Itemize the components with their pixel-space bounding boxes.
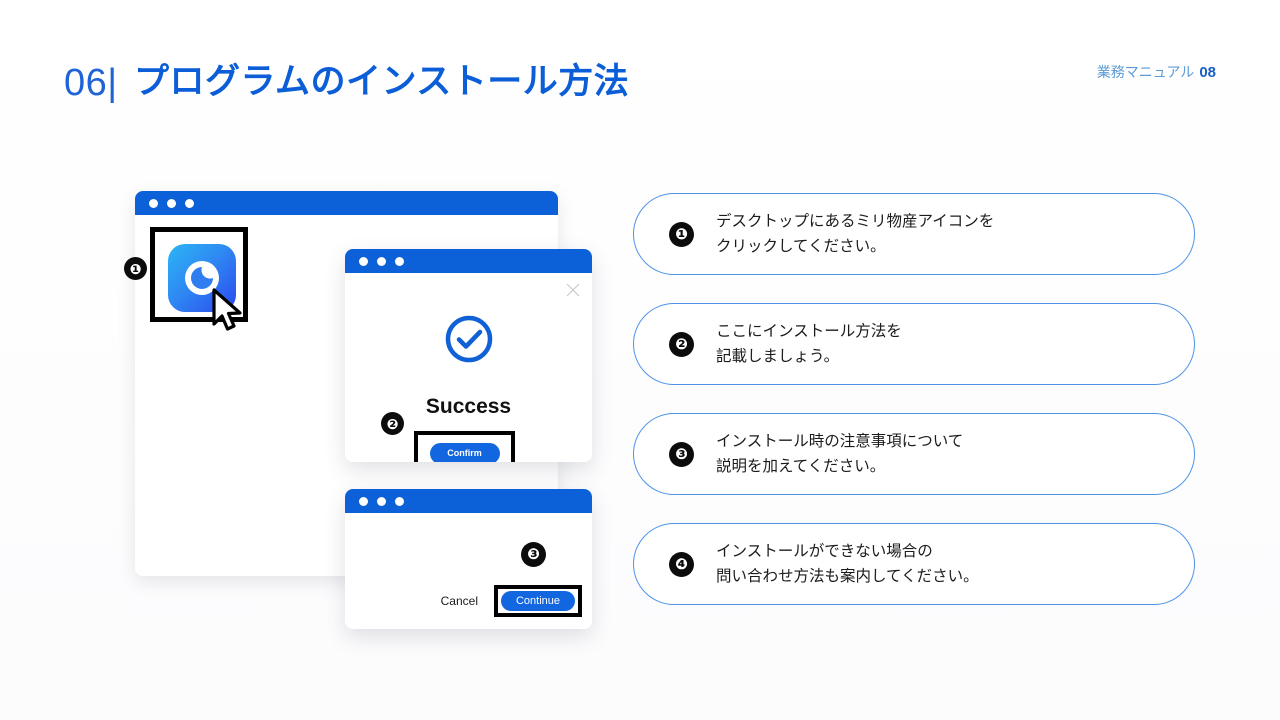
- callout-line-2: 説明を加えてください。: [716, 454, 963, 479]
- status-icon-wrap: [345, 313, 592, 365]
- manual-label: 業務マニュアル: [1097, 64, 1195, 80]
- step-badge-1: ❶: [124, 257, 147, 280]
- document-meta: 業務マニュアル08: [1097, 62, 1216, 82]
- window-body: Cancel Continue: [345, 513, 592, 629]
- confirm-button[interactable]: Confirm: [430, 443, 500, 463]
- callout-badge-2: ❷: [669, 332, 694, 357]
- callout-line-2: 記載しましょう。: [716, 344, 902, 369]
- window-dot-minimize[interactable]: [167, 199, 176, 208]
- check-circle-icon: [443, 313, 495, 365]
- window-dot-minimize[interactable]: [377, 497, 386, 506]
- cancel-button[interactable]: Cancel: [429, 588, 490, 614]
- dialog-titlebar: [345, 249, 592, 273]
- window-titlebar: [135, 191, 558, 215]
- window-dot-close[interactable]: [359, 257, 368, 266]
- window-dot-maximize[interactable]: [395, 497, 404, 506]
- window-dot-close[interactable]: [359, 497, 368, 506]
- callout-badge-4: ❹: [669, 552, 694, 577]
- callout-text-2: ここにインストール方法を 記載しましょう。: [716, 319, 902, 369]
- step-badge-2: ❷: [381, 412, 404, 435]
- mouse-cursor-icon: [211, 288, 245, 332]
- window-titlebar: [345, 489, 592, 513]
- callout-line-1: インストールができない場合の: [716, 539, 979, 564]
- callout-text-3: インストール時の注意事項について 説明を加えてください。: [716, 429, 963, 479]
- callout-list: ❶ デスクトップにあるミリ物産アイコンを クリックしてください。 ❷ ここにイン…: [633, 193, 1195, 633]
- callout-text-4: インストールができない場合の 問い合わせ方法も案内してください。: [716, 539, 979, 589]
- slide-canvas: 06| プログラムのインストール方法 業務マニュアル08: [0, 0, 1280, 720]
- step-badge-3: ❸: [521, 542, 546, 567]
- success-heading: Success: [345, 395, 592, 419]
- continue-highlight: Continue: [494, 585, 582, 617]
- continue-button[interactable]: Continue: [501, 591, 575, 611]
- callout-item-2: ❷ ここにインストール方法を 記載しましょう。: [633, 303, 1195, 385]
- window-dot-maximize[interactable]: [185, 199, 194, 208]
- dialog-body: Success Confirm: [345, 273, 592, 462]
- page-number: 08: [1199, 64, 1216, 81]
- callout-line-1: ここにインストール方法を: [716, 319, 902, 344]
- callout-line-2: クリックしてください。: [716, 234, 994, 259]
- close-icon[interactable]: [566, 283, 580, 297]
- callout-badge-3: ❸: [669, 442, 694, 467]
- installer-window: Cancel Continue: [345, 489, 592, 629]
- callout-item-3: ❸ インストール時の注意事項について 説明を加えてください。: [633, 413, 1195, 495]
- dialog-actions: Cancel Continue: [429, 585, 582, 617]
- illustration-group: Success Confirm Cancel Continue: [0, 0, 620, 720]
- callout-line-2: 問い合わせ方法も案内してください。: [716, 564, 979, 589]
- callout-line-1: インストール時の注意事項について: [716, 429, 963, 454]
- callout-text-1: デスクトップにあるミリ物産アイコンを クリックしてください。: [716, 209, 994, 259]
- window-dot-minimize[interactable]: [377, 257, 386, 266]
- callout-badge-1: ❶: [669, 222, 694, 247]
- window-dot-maximize[interactable]: [395, 257, 404, 266]
- callout-line-1: デスクトップにあるミリ物産アイコンを: [716, 209, 994, 234]
- confirm-highlight: Confirm: [414, 431, 515, 462]
- callout-item-4: ❹ インストールができない場合の 問い合わせ方法も案内してください。: [633, 523, 1195, 605]
- callout-item-1: ❶ デスクトップにあるミリ物産アイコンを クリックしてください。: [633, 193, 1195, 275]
- window-dot-close[interactable]: [149, 199, 158, 208]
